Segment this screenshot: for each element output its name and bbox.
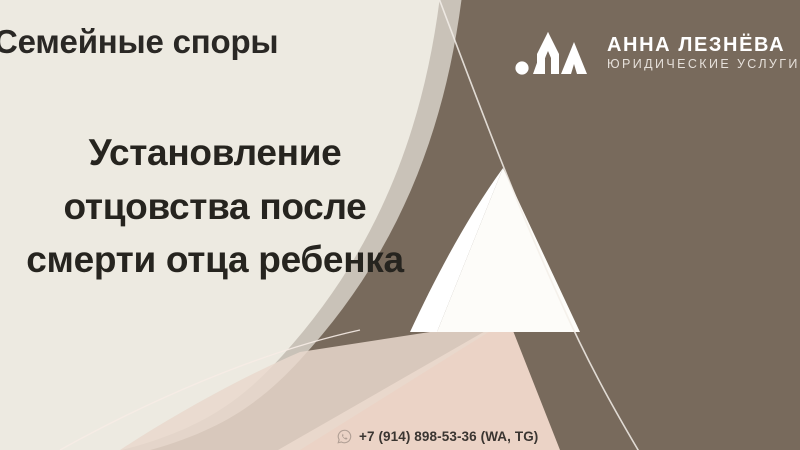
- slide-headline: Установление отцовства после смерти отца…: [0, 126, 470, 287]
- brand-tagline: ЮРИДИЧЕСКИЕ УСЛУГИ: [607, 58, 800, 71]
- headline-line-3: смерти отца ребенка: [0, 233, 470, 287]
- whatsapp-phone-icon: [337, 429, 352, 444]
- content-layer: Семейные споры Установление отцовства по…: [0, 0, 800, 450]
- phone-number-text: +7 (914) 898-53-36 (WA, TG): [359, 430, 538, 444]
- monogram-m-icon: [515, 28, 593, 78]
- brand-logo: АННА ЛЕЗНЁВА ЮРИДИЧЕСКИЕ УСЛУГИ: [515, 28, 800, 78]
- headline-line-2: отцовства после: [0, 180, 470, 234]
- contact-phone: +7 (914) 898-53-36 (WA, TG): [337, 429, 538, 444]
- headline-line-1: Установление: [0, 126, 470, 180]
- slide-kicker: Семейные споры: [0, 24, 278, 60]
- slide-canvas: Семейные споры Установление отцовства по…: [0, 0, 800, 450]
- logo-wordmark: АННА ЛЕЗНЁВА ЮРИДИЧЕСКИЕ УСЛУГИ: [607, 35, 800, 71]
- brand-name: АННА ЛЕЗНЁВА: [607, 35, 800, 55]
